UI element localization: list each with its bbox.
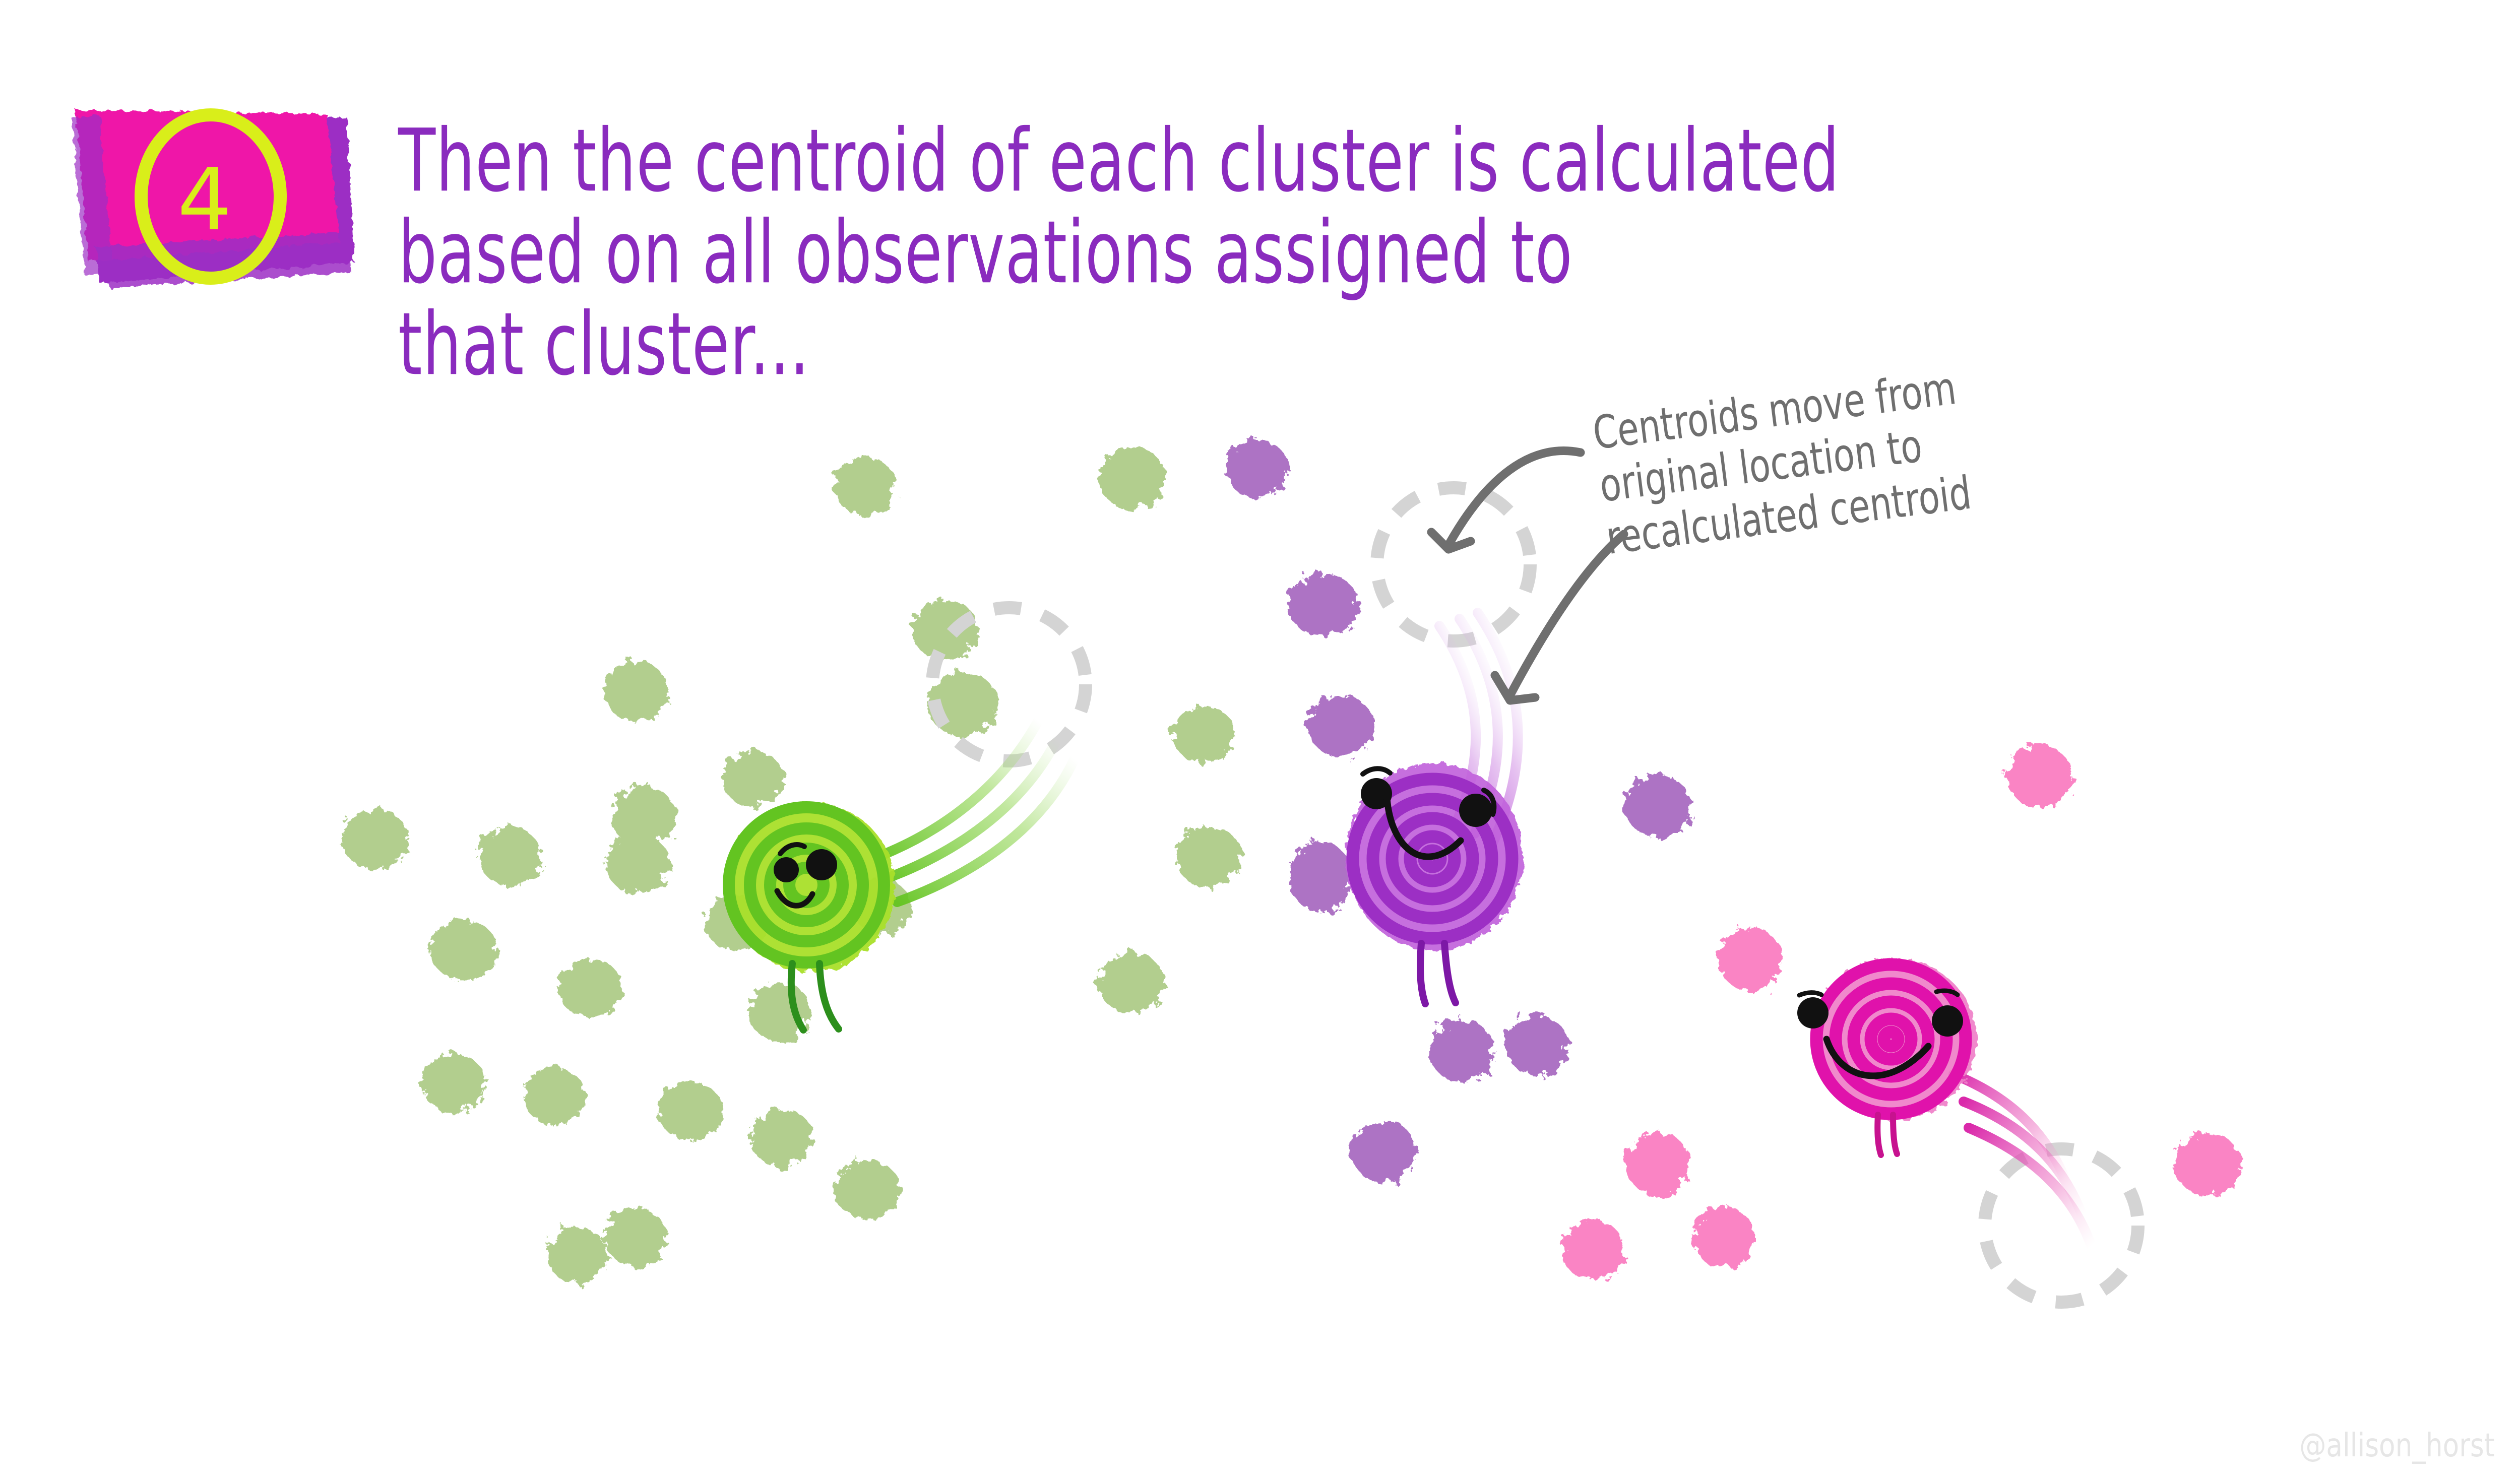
old-centroid-pink-circle [1985,1149,2138,1302]
pink-motion-trail [1954,1074,2092,1247]
old-centroid-green-circle [932,608,1086,761]
smile-icon [1387,798,1461,857]
annotation-arrows [1431,451,1624,700]
green-cluster-points [342,446,1242,1283]
eye-icon [1361,778,1392,809]
step-number-badge: 4 [65,96,367,312]
centroid-green-spiral [729,807,884,962]
page-title: Then the centroid of each cluster is cal… [398,116,2207,391]
old-centroid-purple-circle [1377,488,1530,641]
centroid-pink-spiral [1816,965,1966,1114]
centroid-green-legs [791,963,839,1030]
eyebrow-icon [1936,991,1958,995]
motion-trails [878,613,2092,1247]
centroid-purple-legs [1420,943,1456,1004]
step-number-text: 4 [65,96,367,312]
centroid-pink-face [1797,991,1963,1076]
eye-icon [806,849,837,880]
arrow-to-new-centroid [1495,534,1624,700]
author-watermark: @allison_horst [2299,1427,2494,1464]
centroid-purple-spiral [1353,779,1512,938]
smile-icon [777,891,812,906]
centroid-green[interactable] [726,802,895,1030]
centroid-purple-face [1361,768,1494,857]
eye-icon [1797,997,1829,1029]
eyebrow-icon [780,845,804,854]
eyebrow-icon [1484,790,1494,814]
centroid-purple[interactable] [1346,763,1523,1004]
title-line-2: based on all observations assigned to [398,208,2207,299]
old-centroid-markers [932,488,2138,1302]
eyebrow-icon [1363,768,1390,774]
centroid-green-face [774,845,837,906]
illustration-canvas: 4 Then the centroid of each cluster is c… [0,0,2520,1478]
centroid-pink[interactable] [1797,958,1977,1155]
eye-icon [774,857,799,882]
eyebrow-icon [1799,993,1821,995]
purple-motion-trail [1439,613,1518,843]
pink-cluster-points [1561,745,2241,1280]
eye-icon [1932,1005,1963,1037]
eye-icon [1459,794,1492,827]
green-motion-trail [878,721,1075,902]
title-line-1: Then the centroid of each cluster is cal… [398,116,2207,208]
centroid-pink-legs [1877,1115,1897,1155]
smile-icon [1826,1039,1928,1076]
arrow-to-old-position [1431,451,1581,549]
